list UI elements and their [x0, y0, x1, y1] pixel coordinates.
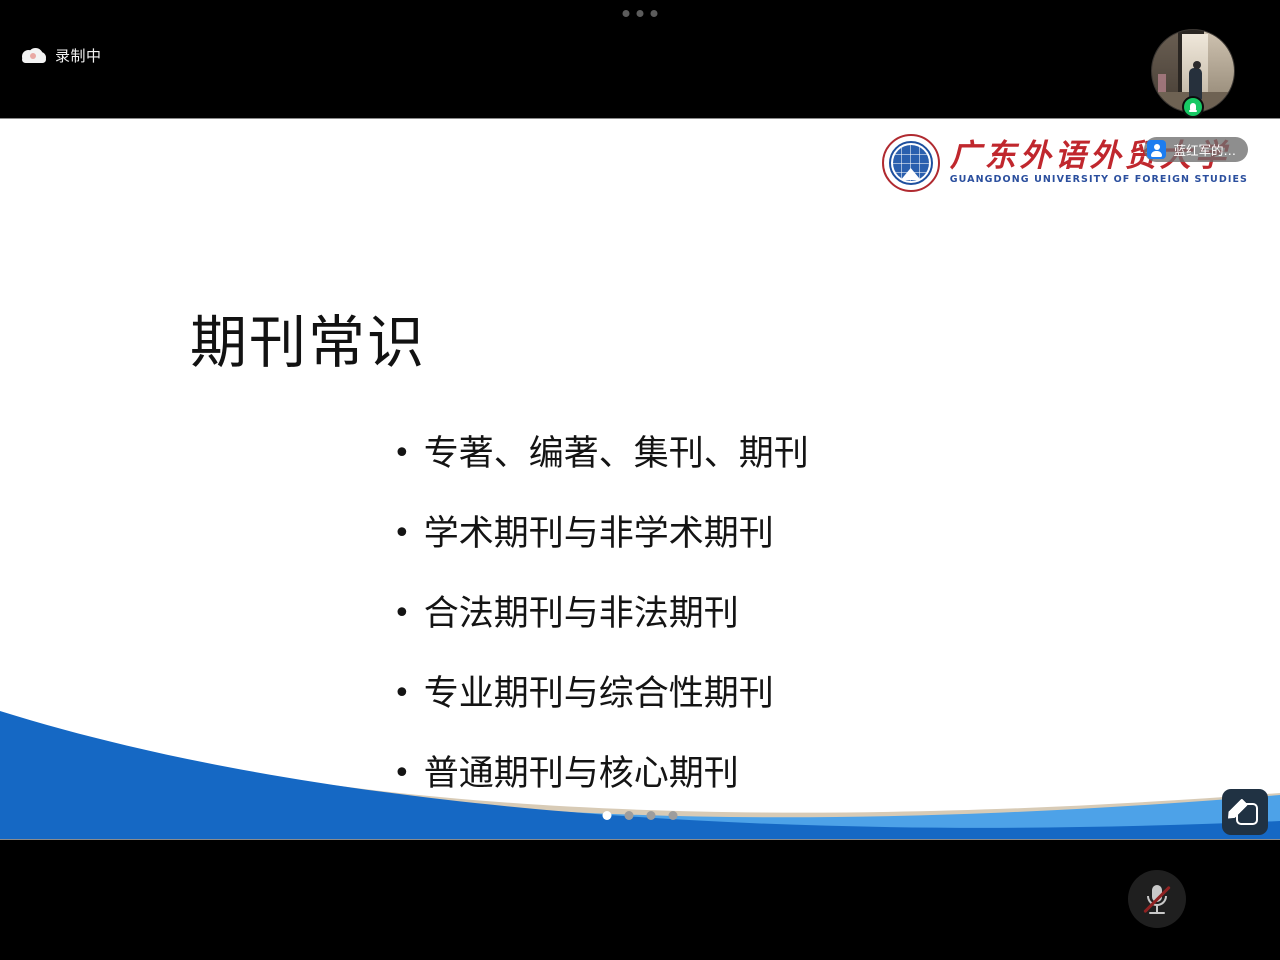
bullet-marker: • [393, 677, 411, 710]
pagination-dot-4[interactable] [669, 811, 678, 820]
list-item: • 合法期刊与非法期刊 [393, 597, 1093, 632]
list-item: • 专著、编著、集刊、期刊 [393, 437, 1093, 472]
list-item-label: 学术期刊与非学术期刊 [424, 517, 774, 552]
list-item: • 学术期刊与非学术期刊 [393, 517, 1093, 552]
university-emblem-icon [882, 134, 940, 192]
list-item-label: 专著、编著、集刊、期刊 [424, 437, 809, 472]
list-item: • 专业期刊与综合性期刊 [393, 677, 1093, 712]
presenter-name-label: 蓝红军的… [1173, 140, 1236, 159]
pagination-dot-2[interactable] [625, 811, 634, 820]
list-item-label: 专业期刊与综合性期刊 [424, 677, 774, 712]
cloud-icon [22, 48, 46, 63]
drag-dot [623, 10, 630, 17]
drag-dot [637, 10, 644, 17]
presenter-name-badge[interactable]: 蓝红军的… [1144, 137, 1248, 162]
pagination-dot-1[interactable] [603, 811, 612, 820]
mic-active-icon [1182, 96, 1204, 118]
slide-title: 期刊常识 [190, 315, 426, 372]
bullet-marker: • [393, 517, 411, 550]
video-person-head [1193, 61, 1201, 69]
shared-slide: 广东外语外贸大学 GUANGDONG UNIVERSITY OF FOREIGN… [0, 118, 1280, 840]
window-drag-handle[interactable] [623, 6, 658, 20]
meeting-window: 录制中 [0, 0, 1280, 960]
slide-pagination[interactable] [603, 811, 678, 820]
recording-label: 录制中 [55, 45, 102, 66]
bullet-marker: • [393, 437, 411, 470]
person-icon [1147, 140, 1166, 159]
drag-dot [651, 10, 658, 17]
recording-indicator[interactable]: 录制中 [22, 42, 102, 68]
university-name-en: GUANGDONG UNIVERSITY OF FOREIGN STUDIES [950, 174, 1248, 185]
pagination-dot-3[interactable] [647, 811, 656, 820]
list-item-label: 合法期刊与非法期刊 [424, 597, 739, 632]
bullet-marker: • [393, 597, 411, 630]
annotate-button[interactable] [1222, 789, 1268, 835]
mute-toggle-button[interactable] [1128, 870, 1186, 928]
